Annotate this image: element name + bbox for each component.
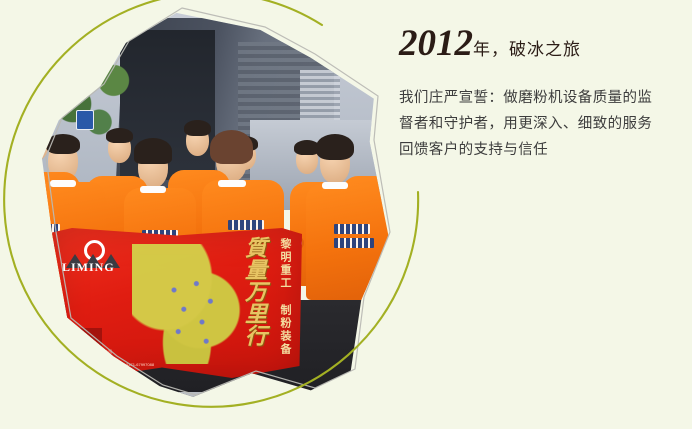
photo-ground xyxy=(0,392,420,429)
banner-headline-vertical: 質量万里行 xyxy=(240,236,266,346)
photo-person-hair xyxy=(210,130,253,164)
page-title: 2012年，破冰之旅 xyxy=(399,22,679,65)
photo-shirt-collar xyxy=(218,180,246,187)
photo-shirt-collar xyxy=(322,182,348,189)
banner-subhead-vertical: 黎明重工 制粉装备 xyxy=(275,238,292,356)
photo-shirt-print xyxy=(334,224,370,234)
title-suffix: 年，破冰之旅 xyxy=(473,40,581,59)
text-column: 2012年，破冰之旅 我们庄严宣誓：做磨粉机设备质量的监督者和守护者，用更深入、… xyxy=(399,22,679,163)
body-paragraph: 我们庄严宣誓：做磨粉机设备质量的监督者和守护者，用更深入、细致的服务回馈客户的支… xyxy=(399,85,657,163)
title-year: 2012 xyxy=(399,23,473,64)
photo-panel: LIMING 質量万里行 黎明重工 制粉装备 黎明重工科技股份有限公司 网址：h… xyxy=(0,0,420,429)
photo-shirt-collar xyxy=(50,180,76,187)
photo-shirt-print xyxy=(334,238,374,248)
liming-logo-wordmark: LIMING xyxy=(62,260,115,275)
banner-map-city-markers xyxy=(160,274,230,354)
banner-flag-emblem xyxy=(60,328,102,354)
photo-person-hair xyxy=(22,124,50,140)
photo-person-hair xyxy=(106,128,133,143)
photo-person-hair xyxy=(46,134,80,154)
photo-person-hair xyxy=(134,138,172,164)
photo-shirt-print xyxy=(228,220,264,230)
banner-footer-text: 黎明重工科技股份有限公司 网址：http://www.lmlq.com 全国统一… xyxy=(64,349,184,368)
photo-person-hair xyxy=(184,120,211,136)
banner-footer-line-3: 全国统一销售热线：400-655-1888 0371-67997088 xyxy=(64,362,184,368)
company-team-photo: LIMING 質量万里行 黎明重工 制粉装备 黎明重工科技股份有限公司 网址：h… xyxy=(0,0,420,429)
milestone-banner-2012: LIMING 質量万里行 黎明重工 制粉装备 黎明重工科技股份有限公司 网址：h… xyxy=(0,0,692,429)
photo-person-head xyxy=(24,130,48,161)
photo-red-banner: LIMING 質量万里行 黎明重工 制粉装备 黎明重工科技股份有限公司 网址：h… xyxy=(52,228,302,378)
photo-person-hair xyxy=(316,134,354,160)
photo-shirt-collar xyxy=(140,186,166,193)
